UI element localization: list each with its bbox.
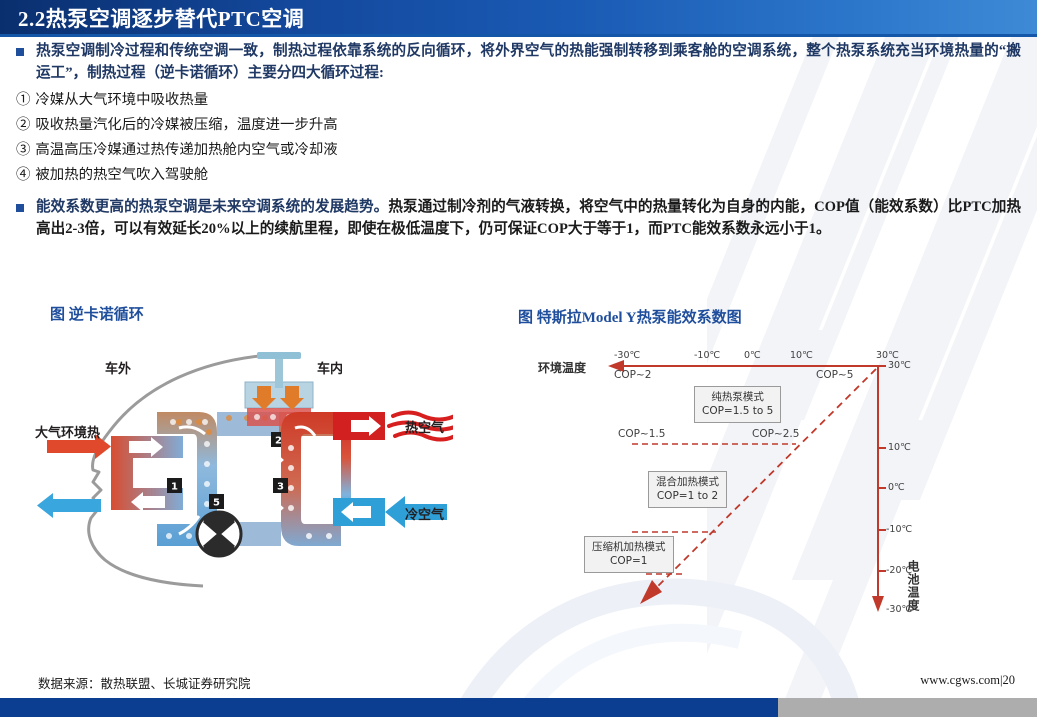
mode-name: 压缩机加热模式: [592, 540, 666, 554]
bullet-block-1: 热泵空调制冷过程和传统空调一致，制热过程依靠系统的反向循环，将外界空气的热能强制…: [0, 40, 1037, 84]
expansion-valve-icon: [197, 512, 241, 556]
footer-bar-blue: [0, 698, 778, 717]
step-number: ③: [16, 142, 30, 158]
list-item: ①冷媒从大气环境中吸收热量: [16, 88, 1037, 113]
bullet-square-icon: [16, 48, 24, 56]
step-text: 被加热的热空气吹入驾驶舱: [35, 167, 208, 183]
mode-cop: COP=1: [592, 554, 666, 568]
y-tick-label: -20℃: [886, 565, 912, 576]
bullet-1-text: 热泵空调制冷过程和传统空调一致，制热过程依靠系统的反向循环，将外界空气的热能强制…: [36, 40, 1037, 84]
x-axis-label: 环境温度: [538, 359, 586, 376]
mode-box-heatpump: 纯热泵模式 COP=1.5 to 5: [694, 386, 781, 423]
mode-name: 纯热泵模式: [702, 390, 773, 404]
x-tick-label: -30℃: [614, 350, 640, 361]
step-text: 吸收热量汽化后的冷媒被压缩，温度进一步升高: [35, 117, 337, 133]
step-text: 高温高压冷媒通过热传递加热舱内空气或冷却液: [35, 142, 337, 158]
label-inside: 车内: [317, 358, 343, 377]
ambient-out-arrow: [37, 493, 101, 518]
label-outside: 车外: [105, 358, 131, 377]
cop-annotation-top-left: COP~2: [614, 369, 651, 381]
mode-name: 混合加热模式: [656, 475, 719, 489]
mode-box-mixed: 混合加热模式 COP=1 to 2: [648, 471, 727, 508]
y-tick-label: -10℃: [886, 524, 912, 535]
carnot-cycle-svg: 1: [33, 336, 453, 636]
x-tick-label: 10℃: [790, 350, 813, 361]
footer-url: www.cgws.com|20: [920, 673, 1015, 688]
bullet-2-text: 能效系数更高的热泵空调是未来空调系统的发展趋势。热泵通过制冷剂的气液转换，将空气…: [36, 196, 1037, 240]
x-tick-label: 0℃: [744, 350, 761, 361]
svg-text:3: 3: [277, 482, 284, 493]
svg-text:2: 2: [275, 436, 282, 447]
bullet-block-2: 能效系数更高的热泵空调是未来空调系统的发展趋势。热泵通过制冷剂的气液转换，将空气…: [0, 196, 1037, 240]
mode-cop: COP=1.5 to 5: [702, 404, 773, 418]
list-item: ②吸收热量汽化后的冷媒被压缩，温度进一步升高: [16, 113, 1037, 138]
cop-annotation-mid-right: COP~2.5: [752, 428, 799, 440]
label-ambient-heat: 大气环境热: [35, 422, 100, 441]
y-tick-label: 0℃: [888, 482, 905, 493]
mode-box-compressor: 压缩机加热模式 COP=1: [584, 536, 674, 573]
page-title: 2.2热泵空调逐步替代PTC空调: [18, 3, 304, 33]
slide-content: 热泵空调制冷过程和传统空调一致，制热过程依靠系统的反向循环，将外界空气的热能强制…: [0, 40, 1037, 244]
process-steps-list: ①冷媒从大气环境中吸收热量 ②吸收热量汽化后的冷媒被压缩，温度进一步升高 ③高温…: [0, 88, 1037, 188]
list-item: ④被加热的热空气吹入驾驶舱: [16, 163, 1037, 188]
figure-caption-right: 图 特斯拉Model Y热泵能效系数图: [518, 306, 742, 327]
header-underline: [0, 34, 1037, 37]
y-tick-label: 30℃: [888, 360, 911, 371]
step-number: ②: [16, 117, 30, 133]
svg-text:5: 5: [213, 498, 220, 509]
figure-caption-left: 图 逆卡诺循环: [50, 303, 144, 324]
mode-cop: COP=1 to 2: [656, 489, 719, 503]
y-tick-label: 10℃: [888, 442, 911, 453]
step-number: ④: [16, 167, 30, 183]
cop-annotation-mid-left: COP~1.5: [618, 428, 665, 440]
label-hot-air: 热空气: [405, 417, 444, 436]
list-item: ③高温高压冷媒通过热传递加热舱内空气或冷却液: [16, 138, 1037, 163]
step-number: ①: [16, 92, 30, 108]
label-cold-air: 冷空气: [405, 504, 444, 523]
cop-annotation-top-right: COP~5: [816, 369, 853, 381]
figure-tesla-cop-chart: 环境温度 电池温度 -30℃ -10℃ 0℃ 10℃ 30℃ 30℃ 10℃ 0…: [528, 336, 998, 636]
bullet-square-icon: [16, 204, 24, 212]
slide-header-bar: 2.2热泵空调逐步替代PTC空调: [0, 0, 1037, 34]
bullet-2-bold: 能效系数更高的热泵空调是未来空调系统的发展趋势。: [36, 199, 388, 215]
y-tick-label: -30℃: [886, 604, 912, 615]
figure-reverse-carnot-cycle: 1: [33, 336, 453, 636]
slide-root: 2.2热泵空调逐步替代PTC空调 热泵空调制冷过程和传统空调一致，制热过程依靠系…: [0, 0, 1037, 717]
svg-text:1: 1: [171, 482, 178, 493]
step-text: 冷媒从大气环境中吸收热量: [35, 92, 208, 108]
footer-bar-gray: [778, 698, 1037, 717]
x-tick-label: -10℃: [694, 350, 720, 361]
footer-source: 数据来源：散热联盟、长城证券研究院: [38, 673, 251, 692]
cop-chart-svg: [528, 336, 998, 636]
